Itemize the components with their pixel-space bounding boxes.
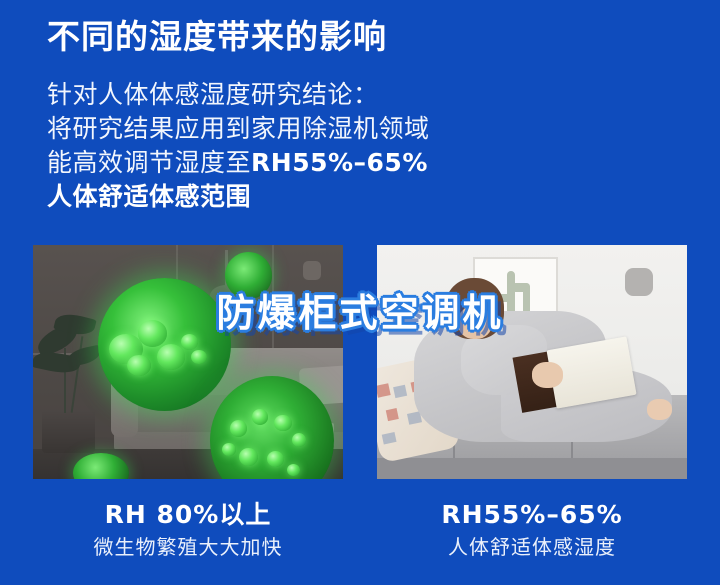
copy-line-3: 能高效调节湿度至RH55%–65% bbox=[47, 146, 487, 180]
page-title: 不同的湿度带来的影响 bbox=[47, 16, 387, 57]
caption-left-main: RH 80%以上 bbox=[33, 500, 343, 530]
caption-right-main: RH55%–65% bbox=[377, 500, 687, 530]
photo-panel-comfort-humidity bbox=[377, 245, 687, 479]
copy-line-3-prefix: 能高效调节湿度至 bbox=[47, 148, 251, 177]
woman-face bbox=[458, 306, 492, 339]
microbe-sphere-large bbox=[98, 278, 231, 411]
plant-leaf-4 bbox=[66, 345, 103, 368]
wall-speaker bbox=[625, 268, 653, 296]
bright-living-room-scene bbox=[377, 245, 687, 479]
body-copy: 针对人体体感湿度研究结论： 将研究结果应用到家用除湿机领域 能高效调节湿度至RH… bbox=[47, 78, 487, 214]
caption-high-humidity: RH 80%以上 微生物繁殖大大加快 bbox=[33, 500, 343, 561]
wall-knob bbox=[303, 261, 322, 280]
plant-pot bbox=[42, 411, 95, 453]
copy-line-1: 针对人体体感湿度研究结论： bbox=[47, 78, 487, 112]
caption-comfort-humidity: RH55%–65% 人体舒适体感湿度 bbox=[377, 500, 687, 561]
caption-left-sub: 微生物繁殖大大加快 bbox=[33, 533, 343, 561]
copy-line-3-value: RH55%–65% bbox=[251, 148, 428, 177]
copy-line-4: 人体舒适体感范围 bbox=[47, 180, 487, 214]
photo-panel-high-humidity bbox=[33, 245, 343, 479]
photo-panel-group bbox=[0, 245, 720, 479]
sofa-base bbox=[377, 458, 687, 479]
humidity-infographic-poster: 不同的湿度带来的影响 针对人体体感湿度研究结论： 将研究结果应用到家用除湿机领域… bbox=[0, 0, 720, 585]
microbe-sphere-small-top bbox=[225, 252, 272, 299]
woman-hand bbox=[532, 362, 563, 388]
wall-seam-b bbox=[272, 245, 274, 353]
dim-living-room-scene bbox=[33, 245, 343, 479]
copy-line-2: 将研究结果应用到家用除湿机领域 bbox=[47, 112, 487, 146]
woman-foot bbox=[647, 399, 672, 420]
caption-right-sub: 人体舒适体感湿度 bbox=[377, 533, 687, 561]
